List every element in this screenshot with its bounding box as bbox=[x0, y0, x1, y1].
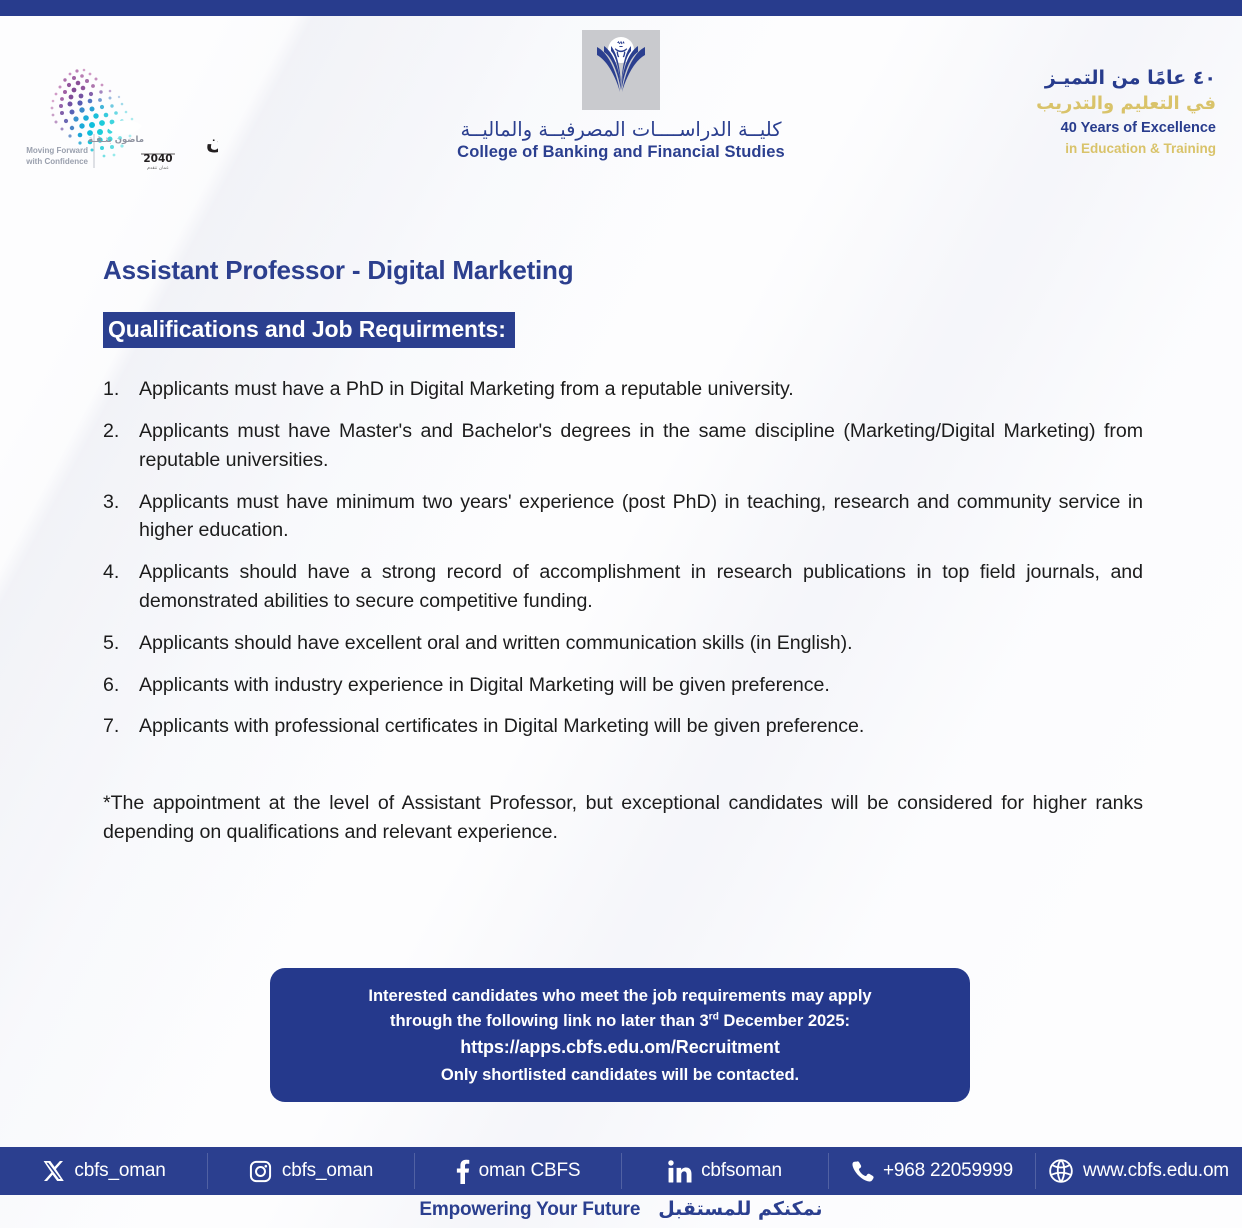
footer-item-label: cbfs_oman bbox=[282, 1160, 373, 1182]
list-item: 7. Applicants with professional certific… bbox=[103, 712, 1143, 741]
footer-item-label: cbfsoman bbox=[701, 1160, 782, 1182]
instagram-icon bbox=[248, 1159, 273, 1184]
application-callout-box: Interested candidates who meet the job r… bbox=[270, 968, 970, 1102]
svg-text:رؤية عمان: رؤية عمان bbox=[206, 130, 218, 154]
callout-line-2: through the following link no later than… bbox=[390, 1008, 850, 1033]
footer-item-phone[interactable]: +968 22059999 bbox=[828, 1147, 1035, 1195]
list-item: 4. Applicants should have a strong recor… bbox=[103, 558, 1143, 616]
svg-text:عمان تتقدم: عمان تتقدم bbox=[147, 166, 169, 171]
list-item: 2. Applicants must have Master's and Bac… bbox=[103, 417, 1143, 475]
top-accent-bar bbox=[0, 0, 1242, 16]
svg-text:ماضون بثـقـة: ماضون بثـقـة bbox=[88, 135, 144, 145]
phone-icon bbox=[850, 1159, 874, 1183]
svg-text:with Confidence: with Confidence bbox=[25, 157, 88, 166]
appointment-note: *The appointment at the level of Assista… bbox=[103, 789, 1143, 847]
anniversary-arabic-line2: في التعليم والتدريب bbox=[916, 92, 1216, 116]
list-item-number: 1. bbox=[103, 375, 139, 404]
list-item-text: Applicants with professional certificate… bbox=[139, 712, 1143, 741]
footer-item-website[interactable]: www.cbfs.edu.om bbox=[1035, 1147, 1242, 1195]
callout-line-1: Interested candidates who meet the job r… bbox=[368, 983, 871, 1008]
qualifications-heading: Qualifications and Job Requirments: bbox=[103, 312, 515, 348]
tagline-arabic: نمكنكم للمستقبل bbox=[658, 1198, 822, 1220]
footer-item-facebook[interactable]: oman CBFS bbox=[414, 1147, 621, 1195]
globe-icon bbox=[1048, 1158, 1074, 1184]
list-item-text: Applicants must have Master's and Bachel… bbox=[139, 417, 1143, 475]
linkedin-icon bbox=[667, 1159, 692, 1184]
footer-tagline: Empowering Your Future نمكنكم للمستقبل bbox=[0, 1198, 1242, 1221]
footer-item-instagram[interactable]: cbfs_oman bbox=[207, 1147, 414, 1195]
list-item: 3. Applicants must have minimum two year… bbox=[103, 488, 1143, 546]
svg-text:Moving Forward: Moving Forward bbox=[26, 146, 88, 155]
page-title: Assistant Professor - Digital Marketing bbox=[103, 255, 1143, 286]
footer-item-label: oman CBFS bbox=[479, 1160, 581, 1182]
cbfs-logo: كليــة الدراســــات المصرفيــة والماليــ… bbox=[421, 30, 821, 162]
list-item-text: Applicants must have minimum two years' … bbox=[139, 488, 1143, 546]
requirements-list: 1. Applicants must have a PhD in Digital… bbox=[103, 375, 1143, 741]
anniversary-english-line1: 40 Years of Excellence bbox=[916, 118, 1216, 140]
poster-header: رؤية عمان 2040 عمان تتقدم ماضون بثـقـة M… bbox=[0, 16, 1242, 182]
x-twitter-icon bbox=[41, 1159, 65, 1183]
social-footer-bar: cbfs_oman cbfs_oman oman CBFS bbox=[0, 1147, 1242, 1195]
footer-item-linkedin[interactable]: cbfsoman bbox=[621, 1147, 828, 1195]
list-item-number: 6. bbox=[103, 671, 139, 700]
list-item-number: 5. bbox=[103, 629, 139, 658]
list-item-text: Applicants should have a strong record o… bbox=[139, 558, 1143, 616]
anniversary-arabic-line1: ٤٠ عامًا من التميـز bbox=[916, 66, 1216, 92]
list-item: 6. Applicants with industry experience i… bbox=[103, 671, 1143, 700]
footer-item-label: www.cbfs.edu.om bbox=[1083, 1160, 1229, 1182]
tagline-english: Empowering Your Future bbox=[419, 1199, 640, 1221]
list-item-number: 4. bbox=[103, 558, 139, 616]
poster-body: Assistant Professor - Digital Marketing … bbox=[103, 255, 1143, 847]
list-item: 5. Applicants should have excellent oral… bbox=[103, 629, 1143, 658]
job-advertisement-poster: رؤية عمان 2040 عمان تتقدم ماضون بثـقـة M… bbox=[0, 0, 1242, 1228]
footer-item-twitter[interactable]: cbfs_oman bbox=[0, 1147, 207, 1195]
oman-vision-2040-logo: رؤية عمان 2040 عمان تتقدم ماضون بثـقـة M… bbox=[8, 56, 218, 176]
application-link[interactable]: https://apps.cbfs.edu.om/Recruitment bbox=[460, 1033, 779, 1062]
list-item: 1. Applicants must have a PhD in Digital… bbox=[103, 375, 1143, 404]
cbfs-name-english: College of Banking and Financial Studies bbox=[421, 143, 821, 162]
list-item-text: Applicants with industry experience in D… bbox=[139, 671, 1143, 700]
list-item-text: Applicants must have a PhD in Digital Ma… bbox=[139, 375, 1143, 404]
callout-line-4: Only shortlisted candidates will be cont… bbox=[441, 1062, 799, 1087]
list-item-text: Applicants should have excellent oral an… bbox=[139, 629, 1143, 658]
callout-ordinal-suffix: rd bbox=[709, 1011, 719, 1022]
svg-text:2040: 2040 bbox=[143, 153, 172, 165]
footer-item-label: +968 22059999 bbox=[883, 1160, 1013, 1182]
list-item-number: 3. bbox=[103, 488, 139, 546]
anniversary-english-line2: in Education & Training bbox=[916, 140, 1216, 159]
list-item-number: 7. bbox=[103, 712, 139, 741]
list-item-number: 2. bbox=[103, 417, 139, 475]
callout-deadline-post: December 2025: bbox=[719, 1011, 850, 1030]
footer-item-label: cbfs_oman bbox=[74, 1160, 165, 1182]
facebook-icon bbox=[455, 1159, 470, 1184]
callout-deadline-pre: through the following link no later than… bbox=[390, 1011, 709, 1030]
cbfs-emblem-icon bbox=[582, 30, 660, 110]
anniversary-badge: ٤٠ عامًا من التميـز في التعليم والتدريب … bbox=[916, 66, 1216, 159]
cbfs-name-arabic: كليــة الدراســــات المصرفيــة والماليــ… bbox=[421, 118, 821, 142]
